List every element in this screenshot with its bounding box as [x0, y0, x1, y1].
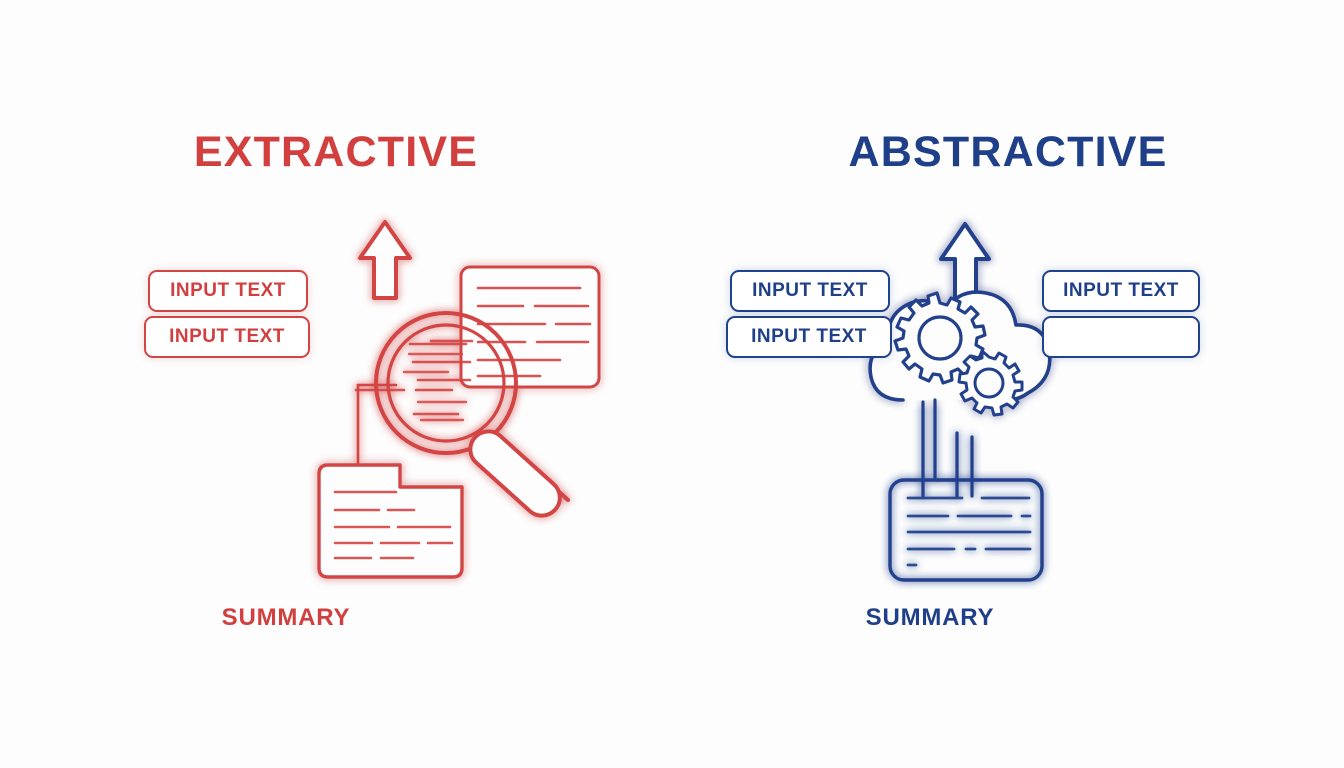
input-text-label: INPUT TEXT — [169, 326, 285, 348]
magnifier-icon — [376, 313, 568, 523]
gear-large-icon — [895, 293, 985, 383]
abstractive-artwork — [672, 0, 1344, 768]
input-text-label: INPUT TEXT — [170, 280, 286, 302]
extractive-connector — [358, 385, 396, 465]
summary-document-icon — [890, 480, 1042, 580]
input-text-label: INPUT TEXT — [752, 280, 868, 302]
summary-folder-icon — [319, 465, 462, 577]
summary-label-extractive: SUMMARY — [0, 604, 622, 632]
lens-text-lines — [404, 354, 466, 420]
gear-small-icon — [959, 351, 1022, 415]
input-text-box-abstractive-3[interactable]: INPUT TEXT — [1042, 270, 1200, 312]
scanned-text-lines — [356, 341, 472, 414]
input-text-box-extractive-2[interactable]: INPUT TEXT — [144, 316, 310, 358]
extractive-artwork — [0, 0, 672, 768]
page-title-abstractive: ABSTRACTIVE — [672, 124, 1344, 180]
document-card-icon — [461, 267, 599, 387]
input-text-label: INPUT TEXT — [1063, 280, 1179, 302]
input-text-box-extractive-1[interactable]: INPUT TEXT — [148, 270, 308, 312]
panel-extractive: EXTRACTIVE — [0, 0, 672, 768]
up-arrow-icon — [941, 224, 989, 300]
summary-label-abstractive: SUMMARY — [594, 604, 1266, 632]
up-arrow-icon — [360, 222, 410, 298]
diagram-canvas: EXTRACTIVE — [0, 0, 1344, 768]
input-text-box-abstractive-1[interactable]: INPUT TEXT — [730, 270, 890, 312]
page-title-extractive: EXTRACTIVE — [0, 124, 672, 180]
input-text-box-abstractive-4[interactable] — [1042, 316, 1200, 358]
input-text-box-abstractive-2[interactable]: INPUT TEXT — [726, 316, 892, 358]
panel-abstractive: ABSTRACTIVE — [672, 0, 1344, 768]
input-text-label: INPUT TEXT — [751, 326, 867, 348]
abstractive-connectors — [923, 400, 972, 496]
cloud-gears-icon — [870, 292, 1050, 415]
